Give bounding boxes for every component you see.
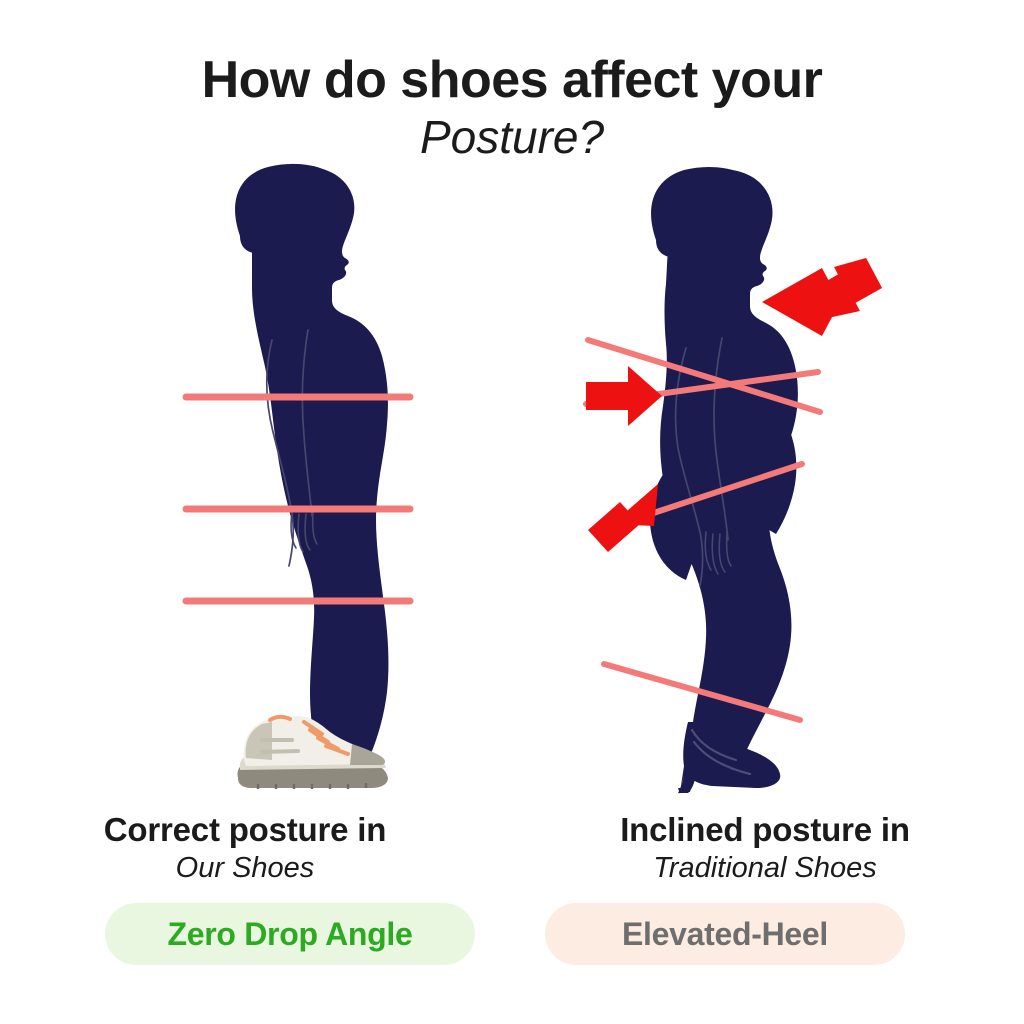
arrow-up-right-icon-shaft [588,502,640,552]
left-silhouette-neck [266,250,322,302]
right-caption-sub: Traditional Shoes [545,851,985,885]
badge-zero-drop-angle[interactable]: Zero Drop Angle [105,903,475,965]
arrow-down-left-icon [812,258,882,318]
right-caption-main: Inclined posture in [545,812,985,849]
arrow-right-icon-shaft [586,382,634,410]
right-silhouette-hair [651,167,770,258]
right-high-heel-pump [678,722,780,794]
left-contour-back [267,340,293,566]
left-contour-hand [291,512,317,552]
left-caption-sub: Our Shoes [25,851,465,885]
right-reference-lines [586,340,820,720]
arrow-down-left-icon-head [762,268,840,336]
title-line-primary: How do shoes affect your [0,54,1024,106]
left-figure-group [186,164,410,789]
left-contour-arm [302,330,312,516]
right-contour-back [676,348,703,586]
left-caption-main: Correct posture in [25,812,465,849]
right-silhouette-body [660,169,798,756]
arrow-right-icon-head [628,366,662,426]
right-caption-block: Inclined posture in Traditional Shoes [545,812,985,885]
right-reference-line-4 [604,664,800,720]
left-caption-block: Correct posture in Our Shoes [25,812,465,885]
arrow-down-left-icon-shaft [825,258,882,311]
right-arrows-group [586,258,882,552]
arrow-up-right-icon-head [612,484,658,526]
right-silhouette-belly [752,410,796,534]
right-reference-line-2 [586,372,818,404]
right-silhouette-hip [650,470,700,580]
right-reference-line-3 [608,464,802,528]
right-reference-line-1 [588,340,820,412]
left-silhouette-body [246,166,389,756]
badge-elevated-heel[interactable]: Elevated-Heel [545,903,905,965]
left-silhouette-hair [235,164,353,254]
badge-left-label: Zero Drop Angle [168,916,413,953]
right-silhouette-neck [682,254,742,308]
title-line-secondary: Posture? [0,114,1024,160]
left-flat-sneaker [237,716,388,789]
posture-infographic: How do shoes affect your Posture? [0,0,1024,1024]
badge-right-label: Elevated-Heel [622,916,828,953]
right-contour-hand [705,532,731,574]
page-title: How do shoes affect your Posture? [0,54,1024,160]
left-reference-lines [186,397,410,601]
right-figure-group [586,167,882,794]
right-contour-arm [714,338,728,540]
